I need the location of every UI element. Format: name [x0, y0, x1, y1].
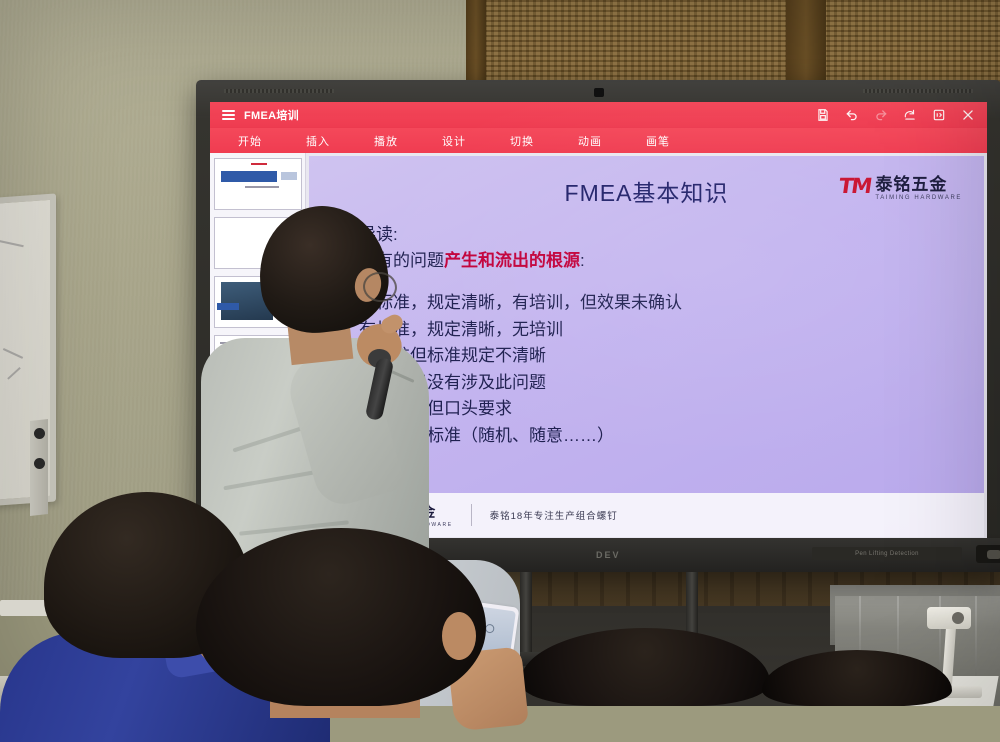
- power-button-indicator: [987, 550, 1000, 559]
- lead-highlight: 产生和流出的根源: [444, 251, 580, 270]
- tab-play[interactable]: 播放: [364, 133, 408, 149]
- footer-tagline: 泰铭18年专注生产组合螺钉: [490, 508, 618, 522]
- brand-name-en: TAIMING HARDWARE: [875, 195, 962, 201]
- present-icon[interactable]: [932, 108, 946, 122]
- share-icon[interactable]: [903, 108, 917, 122]
- lead-sentence: 所有的问题产生和流出的根源:: [359, 248, 954, 274]
- slide-thumbnail-1[interactable]: [214, 158, 302, 210]
- taiming-logo-mark: TM: [837, 174, 872, 198]
- lamp-head: [927, 607, 971, 629]
- presentation-room-photo: FMEA培训: [0, 0, 1000, 706]
- brand-name-cn: 泰铭五金: [875, 170, 962, 195]
- tab-pen[interactable]: 画笔: [636, 133, 680, 149]
- hamburger-menu-icon[interactable]: [222, 110, 235, 120]
- audience-right-hair: [762, 650, 952, 706]
- redo-icon[interactable]: [874, 108, 888, 122]
- lamp-lens: [952, 612, 964, 624]
- app-title-bar: FMEA培训: [210, 102, 987, 128]
- bullet-item: 有标准但没有涉及此问题: [359, 370, 960, 397]
- audience-center-hair: [196, 528, 486, 706]
- title-bar-actions: [816, 108, 975, 122]
- lead-suffix: :: [580, 251, 585, 270]
- slide-bullet-list: 有标准，规定清晰，有培训，但效果未确认 有标准，规定清晰，无培训 有标准但标准规…: [359, 290, 960, 449]
- bullet-item: 没有标准但口头要求: [359, 396, 960, 423]
- lead-label: 导读:: [359, 222, 954, 248]
- audience-member-center: [196, 528, 526, 706]
- bullet-item: 没有任何标准（随机、随意……）: [359, 423, 960, 450]
- tab-insert[interactable]: 插入: [296, 133, 340, 149]
- tab-transition[interactable]: 切换: [500, 133, 544, 149]
- speaker-grille-right: [863, 89, 973, 93]
- audience-center-ear: [442, 612, 476, 660]
- close-icon[interactable]: [961, 108, 975, 122]
- pen-detection-label: Pen Lifting Detection: [812, 547, 962, 560]
- audience-member-back: [520, 628, 770, 706]
- whiteboard-mark-1: [3, 348, 23, 359]
- slide-brand-logo: TM 泰铭五金 TAIMING HARDWARE: [839, 170, 962, 201]
- speaker-grille-left: [224, 89, 334, 93]
- audience-back-hair: [520, 628, 770, 706]
- save-icon[interactable]: [816, 108, 830, 122]
- display-power-button[interactable]: [976, 545, 1000, 563]
- footer-divider: [471, 504, 472, 526]
- camera-shutter-icon: [485, 624, 495, 634]
- undo-icon[interactable]: [845, 108, 859, 122]
- ribbon-menu-bar: 开始 插入 播放 设计 切换 动画 画笔: [210, 128, 987, 153]
- camera-icon: [594, 88, 604, 97]
- whiteboard-knob-lower: [34, 458, 45, 469]
- tab-animation[interactable]: 动画: [568, 133, 612, 149]
- tab-design[interactable]: 设计: [432, 133, 476, 149]
- whiteboard-mark-2: [7, 367, 21, 380]
- bullet-item: 有标准，规定清晰，无培训: [359, 317, 960, 344]
- bullet-item: 有标准但标准规定不清晰: [359, 343, 960, 370]
- audience-member-right: [762, 650, 952, 706]
- whiteboard-mark-3: [0, 240, 24, 247]
- display-brand-logo: DEV: [596, 550, 621, 560]
- slide-lead-text: 导读: 所有的问题产生和流出的根源:: [359, 222, 954, 274]
- bullet-item: 有标准，规定清晰，有培训，但效果未确认: [359, 290, 960, 317]
- document-title: FMEA培训: [244, 107, 299, 123]
- display-top-bezel: [196, 80, 1000, 102]
- tab-start[interactable]: 开始: [228, 133, 272, 149]
- whiteboard-knob-upper: [34, 428, 45, 439]
